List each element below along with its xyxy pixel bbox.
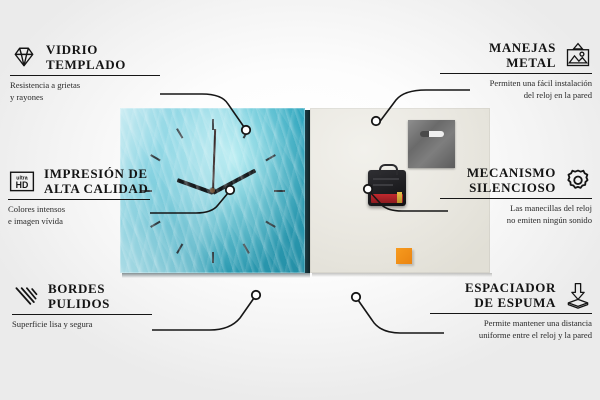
feature-title-line2: METAL: [489, 55, 556, 70]
feature-desc-line1: Permiten una fácil instalación: [440, 78, 592, 90]
feature-espaciador-espuma: ESPACIADOR DE ESPUMA Permite mantener un…: [430, 280, 592, 341]
connector-dot-bordes: [252, 291, 260, 299]
svg-text:HD: HD: [16, 180, 29, 190]
feature-title-line1: VIDRIO: [46, 42, 126, 57]
feature-rule: [8, 199, 150, 200]
feature-header: ESPACIADOR DE ESPUMA: [430, 280, 592, 310]
feature-rule: [440, 198, 592, 199]
feature-header: MANEJAS METAL: [440, 40, 592, 70]
feature-vidrio-templado: VIDRIO TEMPLADO Resistencia a grietas y …: [10, 42, 160, 103]
hanger-slot: [420, 131, 444, 137]
feature-title-line2: ALTA CALIDAD: [44, 181, 148, 196]
connector-bordes: [152, 298, 254, 330]
mechanism-detail: [373, 178, 399, 180]
feature-title-line1: MECANISMO: [467, 165, 556, 180]
feature-manejas-metal: MANEJAS METAL Permiten una fácil instala…: [440, 40, 592, 101]
feature-desc-line1: Superficie lisa y segura: [12, 319, 152, 331]
hanging-picture-icon: [564, 41, 592, 69]
clock-center-pin: [210, 188, 215, 193]
front-panel-shadow: [122, 273, 310, 278]
quartz-mechanism: [368, 170, 406, 206]
feature-title-line1: ESPACIADOR: [465, 280, 556, 295]
feature-desc-line2: del reloj en la pared: [440, 90, 592, 102]
feature-desc-line1: Colores intensos: [8, 204, 150, 216]
feature-title-line2: TEMPLADO: [46, 57, 126, 72]
feature-bordes-pulidos: BORDES PULIDOS Superficie lisa y segura: [12, 281, 152, 331]
feature-rule: [10, 75, 160, 76]
feature-impresion-alta-calidad: ultra HD IMPRESIÓN DE ALTA CALIDAD Color…: [8, 166, 150, 227]
mechanism-detail: [373, 184, 393, 186]
feature-title-line1: MANEJAS: [489, 40, 556, 55]
metal-hanger-plate: [408, 120, 455, 168]
foam-spacer: [396, 248, 412, 264]
connector-dot-espaciador: [352, 293, 360, 301]
feature-desc-line1: Las manecillas del reloj: [440, 203, 592, 215]
feature-mecanismo-silencioso: MECANISMO SILENCIOSO Las manecillas del …: [440, 165, 592, 226]
mechanism-hook: [379, 164, 398, 175]
feature-title-line2: DE ESPUMA: [465, 295, 556, 310]
gear-icon: [564, 166, 592, 194]
feature-rule: [12, 314, 152, 315]
back-panel-shadow: [312, 273, 492, 277]
feature-header: BORDES PULIDOS: [12, 281, 152, 311]
product-image: [120, 108, 490, 273]
feature-desc-line2: e imagen vívida: [8, 216, 150, 228]
polished-edges-icon: [12, 282, 40, 310]
foam-spacer-icon: [564, 281, 592, 309]
feature-title-line2: SILENCIOSO: [467, 180, 556, 195]
battery: [371, 194, 403, 203]
feature-desc-line1: Permite mantener una distancia: [430, 318, 592, 330]
feature-title-line1: IMPRESIÓN DE: [44, 166, 148, 181]
feature-rule: [440, 73, 592, 74]
feature-title-line2: PULIDOS: [48, 296, 110, 311]
feature-header: MECANISMO SILENCIOSO: [440, 165, 592, 195]
feature-rule: [430, 313, 592, 314]
feature-header: ultra HD IMPRESIÓN DE ALTA CALIDAD: [8, 166, 150, 196]
feature-desc-line2: no emiten ningún sonido: [440, 215, 592, 227]
diamond-icon: [10, 43, 38, 71]
feature-desc-line1: Resistencia a grietas: [10, 80, 160, 92]
feature-desc-line2: y rayones: [10, 92, 160, 104]
ultra-hd-icon: ultra HD: [8, 167, 36, 195]
feature-title-line1: BORDES: [48, 281, 110, 296]
feature-desc-line2: uniforme entre el reloj y la pared: [430, 330, 592, 342]
infographic-canvas: VIDRIO TEMPLADO Resistencia a grietas y …: [0, 0, 600, 400]
feature-header: VIDRIO TEMPLADO: [10, 42, 160, 72]
